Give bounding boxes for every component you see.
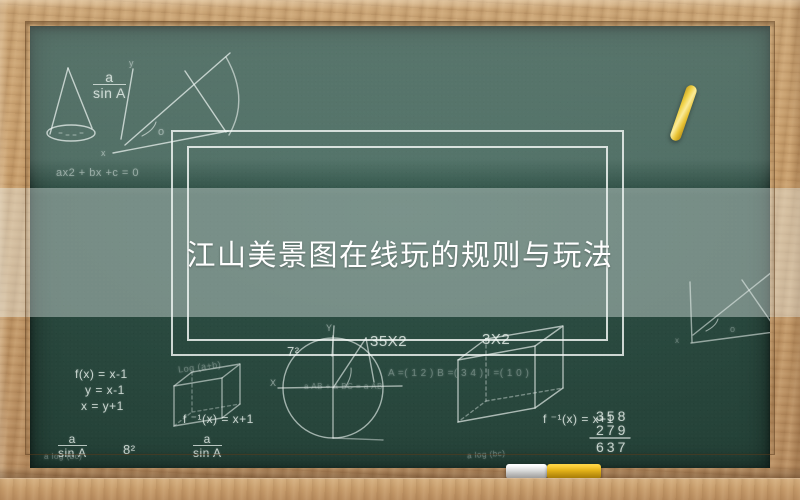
fx-line-2: y = x-1 <box>75 382 128 398</box>
fraction-a-over-sinA-topleft: a sin A <box>93 70 126 101</box>
function-definition-block: f(x) = x-1 y = x-1 x = y+1 <box>75 366 128 415</box>
exponent-8-squared: 8² <box>123 442 136 457</box>
axis-label-x-topleft: x <box>101 148 106 158</box>
chalk-stick-yellow-on-board <box>669 84 698 142</box>
fx-line-1: f(x) = x-1 <box>75 366 128 382</box>
alog-note-left: a log (bc) <box>44 452 82 461</box>
vector-sum-note: a AB + a BC = a AB <box>304 382 383 391</box>
quadratic-equation: ax2 + bx +c = 0 <box>56 167 139 179</box>
angle-label-o-topleft: o <box>158 126 165 138</box>
chalk-ledge <box>0 478 800 500</box>
page-title: 江山美景图在线玩的规则与玩法 <box>0 225 800 281</box>
sum-total: 637 <box>596 439 628 455</box>
log-label: Log (a+b) <box>178 359 222 374</box>
circle-axis-x: X <box>270 378 277 388</box>
fraction-a-over-sinA-bottomleft-2: a sin A <box>193 433 222 460</box>
inverse-function-left: f ⁻¹(x) = x+1 <box>183 412 254 426</box>
sum-addend-2: 279 <box>596 422 628 438</box>
cone-sketch <box>47 68 95 141</box>
angle-label-o-topright: o <box>730 324 736 334</box>
alog-note: a log (bc) <box>467 449 506 461</box>
axis-label-y-topleft: y <box>129 58 134 68</box>
matrix-row: A =( 1 2 ) B =( 3 4 ) I =( 1 0 ) <box>388 368 529 379</box>
title-card-image: a sin A y x o ax2 + bx +c = 0 x o 35X2 3… <box>0 0 800 500</box>
axis-label-x-topright: x <box>675 336 680 345</box>
fx-line-3: x = y+1 <box>75 398 128 414</box>
chalk-piece-yellow-tray <box>547 464 601 479</box>
chalk-piece-white-tray <box>506 464 547 479</box>
